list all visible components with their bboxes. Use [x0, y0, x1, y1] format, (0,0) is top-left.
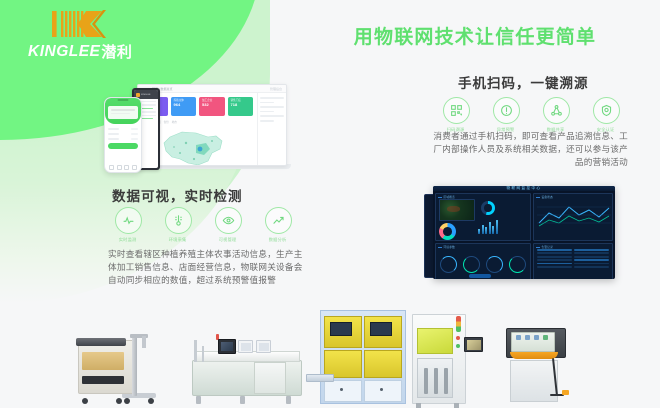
phone-form-row [108, 138, 138, 140]
feature-label: 可视管理 [219, 237, 237, 243]
stat-card[interactable]: 加工企业 532 [199, 97, 225, 116]
shield-badge-icon [593, 97, 620, 124]
stat-card-title: 销售门店 [231, 99, 251, 102]
stat-card-value: 718 [231, 102, 251, 107]
feature-item-shield[interactable]: 安全认证 [588, 97, 624, 133]
mini-map-widget [439, 199, 475, 221]
feature-item-qr-scan[interactable]: 扫码溯源 [438, 97, 474, 133]
feature-icon-row-trace: 扫码溯源 异常预警 数据共享 [438, 97, 624, 133]
machine-marking-printer [500, 324, 576, 404]
stat-card-title: 养殖主体 [174, 99, 194, 102]
stat-card-value: 532 [202, 102, 222, 107]
page-title: 用物联网技术让信任更简单 [330, 22, 620, 49]
brand-logo-text: KINGLEE潜利 [28, 41, 146, 62]
side-list-item [260, 102, 274, 104]
stat-card-value: 964 [174, 102, 194, 107]
side-list-item [260, 97, 284, 99]
feature-item-thermometer[interactable]: 环境采集 [160, 207, 196, 243]
feature-label: 实时监测 [119, 237, 137, 243]
donut-chart [439, 223, 456, 240]
dashboard-column-right: 设备状态 告警记录 [533, 193, 613, 279]
feature-item-eye[interactable]: 可视管理 [210, 207, 246, 243]
gauge-widget [486, 256, 503, 273]
section-paragraph-data: 实时查看辖区种植养殖主体农事活动信息，生产主体加工销售信息、店面经营信息，物联网… [108, 248, 306, 288]
filter-chip[interactable]: 省份 [164, 120, 169, 124]
dashboard-account-label: 管理后台 [270, 87, 282, 91]
side-list-item [260, 106, 284, 108]
donut-chart-small [481, 201, 495, 215]
share-network-icon [543, 97, 570, 124]
chart-trend-icon [265, 207, 292, 234]
machine-box-packer [74, 326, 160, 404]
phone-mockup [104, 97, 142, 173]
gauge-widget [509, 256, 526, 273]
brand-name: KINGLEE [28, 43, 100, 61]
phone-primary-button[interactable] [108, 143, 138, 149]
alert-exclamation-icon [493, 97, 520, 124]
phone-form-row [108, 128, 138, 130]
stat-card[interactable]: 养殖主体 964 [171, 97, 197, 116]
machine-yellow-cabinet-line [320, 310, 406, 404]
dashboard-topbar: 首页 / 数据总览 管理后台 [138, 85, 286, 93]
feature-icon-row-data: 实时监测 环境采集 可视管理 [110, 207, 296, 243]
scan-icon[interactable] [117, 165, 122, 170]
feature-label: 环境采集 [169, 237, 187, 243]
section-heading-trace: 手机扫码，一键溯源 [458, 72, 589, 92]
filter-chip[interactable]: 地市 [172, 120, 177, 124]
side-list-item [260, 111, 274, 113]
phone-form-rows [105, 124, 141, 140]
section-paragraph-trace: 消费者通过手机扫码，即可查看产品追溯信息、工厂内部操作人员及系统相关数据，还可以… [432, 130, 628, 170]
gauge-widget [463, 256, 480, 273]
control-dashboard-mockup: 物联网监控中心 区域概览 [424, 186, 616, 286]
phone-card-line [111, 113, 130, 114]
user-icon[interactable] [132, 165, 137, 170]
feature-item-alert[interactable]: 异常预警 [488, 97, 524, 133]
brand-logo: KINGLEE潜利 [26, 8, 146, 64]
feature-item-pulse[interactable]: 实时监测 [110, 207, 146, 243]
thermometer-icon [165, 207, 192, 234]
kinglee-k-mark-icon [50, 8, 146, 40]
feature-label: 数据分析 [269, 237, 287, 243]
control-dashboard-grid: 区域概览 [433, 191, 615, 279]
dashboard-column-left: 区域概览 [435, 193, 531, 279]
phone-header-card [108, 106, 138, 119]
phone-app-header [105, 98, 141, 124]
home-icon[interactable] [109, 165, 114, 170]
control-dashboard-screen: 物联网监控中心 区域概览 [433, 186, 615, 279]
panel-title: 告警记录 [536, 245, 553, 249]
list-icon[interactable] [124, 165, 129, 170]
dashboard-side-panel [257, 93, 286, 166]
poster-canvas: KINGLEE潜利 用物联网技术让信任更简单 手机扫码，一键溯源 扫码溯源 异常… [0, 0, 660, 408]
dashboard-status-pill [469, 274, 491, 278]
phone-notch [118, 99, 129, 101]
qr-scan-icon [443, 97, 470, 124]
panel-region-overview: 区域概览 [435, 193, 531, 241]
dashboard-body: 种植主体 1286 养殖主体 964 加工企业 532 销售门店 [138, 93, 286, 166]
gauge-widget [440, 256, 457, 273]
phone-bottom-nav [105, 165, 141, 170]
panel-alarm-log: 告警记录 [533, 243, 613, 279]
stat-card-title: 加工企业 [202, 99, 222, 102]
phone-card-line [111, 109, 135, 111]
eye-view-icon [215, 207, 242, 234]
stat-card[interactable]: 销售门店 718 [228, 97, 254, 116]
machine-inspection-conveyor [182, 334, 310, 404]
feature-item-chart[interactable]: 数据分析 [260, 207, 296, 243]
phone-form-row [108, 133, 138, 135]
side-list-item [260, 120, 274, 122]
tablet-title: KINGLEE [141, 94, 150, 96]
machine-test-chamber [412, 312, 482, 404]
pulse-wave-icon [115, 207, 142, 234]
section-heading-data: 数据可视，实时检测 [112, 185, 243, 205]
side-list-item [260, 115, 284, 117]
tablet-logo-icon [136, 93, 140, 97]
brand-name-cn: 潜利 [101, 41, 132, 62]
feature-item-share[interactable]: 数据共享 [538, 97, 574, 133]
machine-photo-strip [0, 296, 660, 408]
panel-device-status: 设备状态 [533, 193, 613, 241]
alarm-table [537, 249, 609, 268]
bar-chart [478, 218, 498, 234]
panel-title: 环境参数 [438, 245, 455, 249]
